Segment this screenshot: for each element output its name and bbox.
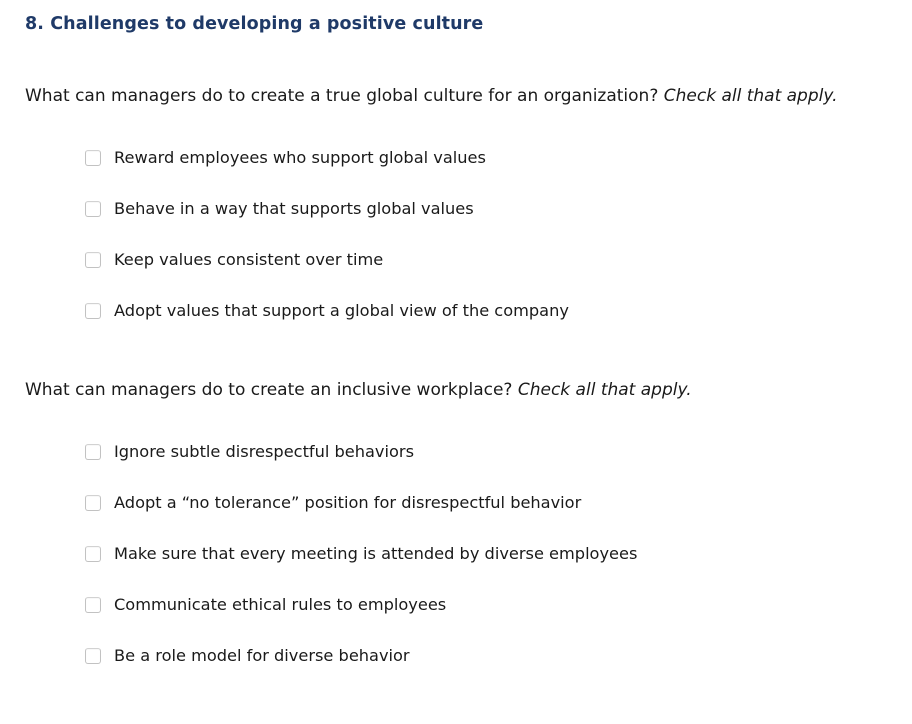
checkbox-option-label: Make sure that every meeting is attended… — [114, 543, 637, 565]
checkbox-option-row[interactable]: Reward employees who support global valu… — [85, 147, 486, 169]
checkbox-option-label: Be a role model for diverse behavior — [114, 645, 410, 667]
question-prompt-2-text: What can managers do to create an inclus… — [25, 380, 518, 400]
checkbox-input-g1-1[interactable] — [85, 201, 101, 217]
question-prompt-1: What can managers do to create a true gl… — [25, 85, 838, 107]
checkbox-input-g2-0[interactable] — [85, 444, 101, 460]
checkbox-option-row[interactable]: Behave in a way that supports global val… — [85, 198, 474, 220]
checkbox-option-label: Behave in a way that supports global val… — [114, 198, 474, 220]
checkbox-option-row[interactable]: Adopt values that support a global view … — [85, 300, 569, 322]
question-prompt-1-instruction: Check all that apply. — [664, 86, 838, 106]
checkbox-option-row[interactable]: Make sure that every meeting is attended… — [85, 543, 637, 565]
checkbox-input-g1-3[interactable] — [85, 303, 101, 319]
section-heading: 8. Challenges to developing a positive c… — [25, 13, 483, 35]
question-prompt-1-text: What can managers do to create a true gl… — [25, 86, 664, 106]
checkbox-input-g2-4[interactable] — [85, 648, 101, 664]
checkbox-input-g1-2[interactable] — [85, 252, 101, 268]
checkbox-option-label: Adopt a “no tolerance” position for disr… — [114, 492, 581, 514]
question-prompt-2: What can managers do to create an inclus… — [25, 379, 692, 401]
checkbox-option-label: Reward employees who support global valu… — [114, 147, 486, 169]
checkbox-input-g2-1[interactable] — [85, 495, 101, 511]
checkbox-option-label: Communicate ethical rules to employees — [114, 594, 446, 616]
question-prompt-2-instruction: Check all that apply. — [518, 380, 692, 400]
checkbox-option-label: Keep values consistent over time — [114, 249, 383, 271]
checkbox-option-row[interactable]: Keep values consistent over time — [85, 249, 383, 271]
checkbox-input-g2-3[interactable] — [85, 597, 101, 613]
checkbox-option-label: Adopt values that support a global view … — [114, 300, 569, 322]
checkbox-option-row[interactable]: Adopt a “no tolerance” position for disr… — [85, 492, 581, 514]
quiz-page: 8. Challenges to developing a positive c… — [0, 0, 912, 724]
checkbox-option-label: Ignore subtle disrespectful behaviors — [114, 441, 414, 463]
checkbox-option-row[interactable]: Be a role model for diverse behavior — [85, 645, 410, 667]
checkbox-input-g2-2[interactable] — [85, 546, 101, 562]
checkbox-option-row[interactable]: Ignore subtle disrespectful behaviors — [85, 441, 414, 463]
checkbox-option-row[interactable]: Communicate ethical rules to employees — [85, 594, 446, 616]
checkbox-input-g1-0[interactable] — [85, 150, 101, 166]
